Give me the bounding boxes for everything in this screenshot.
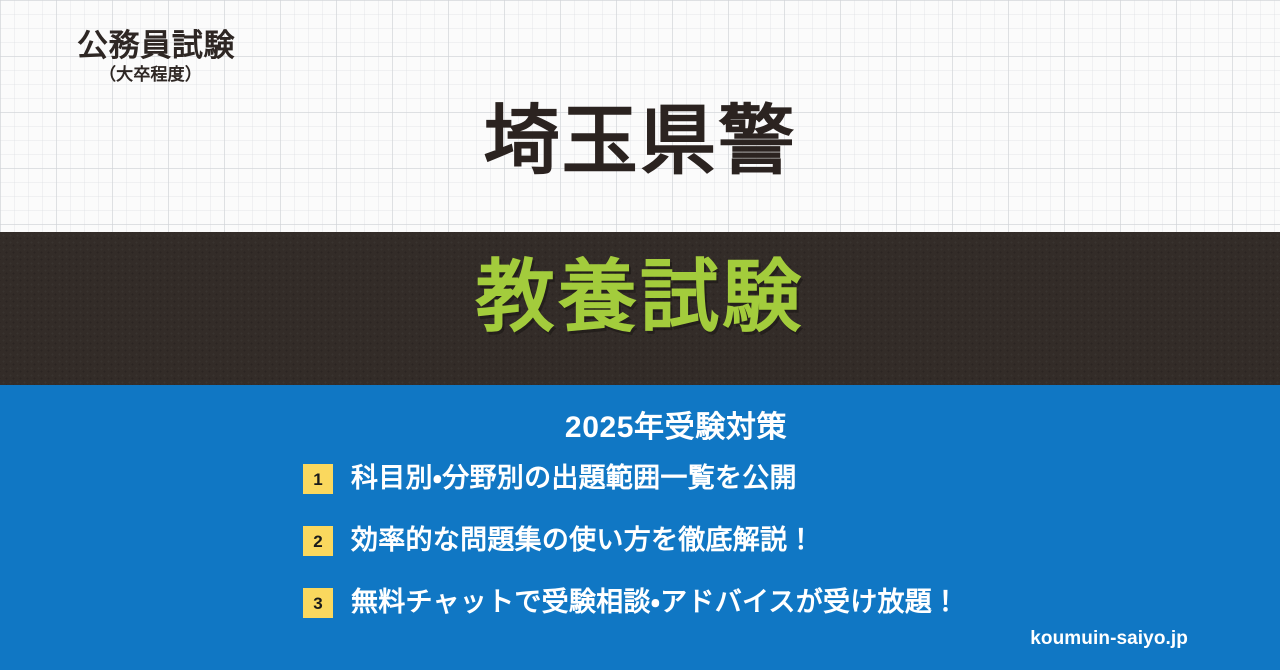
promo-heading: 2025年受験対策 [296,411,1056,444]
exam-type-label: 教養試験 [0,256,1280,339]
kicker-block: 公務員試験 （大卒程度） [77,28,437,84]
point-number-badge: 1 [303,464,333,494]
exam-promo-banner: 公務員試験 （大卒程度） 埼玉県警 教養試験 2025年受験対策 1 科目別・分… [0,0,1280,670]
site-url-label: koumuin-saiyo.jp [1030,629,1188,650]
promo-section: 2025年受験対策 1 科目別・分野別の出題範囲一覧を公開 2 効率的な問題集の… [0,385,1280,670]
point-text: 効率的な問題集の使い方を徹底解説！ [351,526,815,556]
exam-type-section: 教養試験 [0,232,1280,385]
promo-point-list: 1 科目別・分野別の出題範囲一覧を公開 2 効率的な問題集の使い方を徹底解説！ … [303,463,1203,619]
point-text: 科目別・分野別の出題範囲一覧を公開 [351,464,797,494]
kicker-sub-label: （大卒程度） [77,66,437,85]
point-number-badge: 2 [303,526,333,556]
page-title: 埼玉県警 [0,104,1280,180]
kicker-main-label: 公務員試験 [77,28,437,64]
point-text: 無料チャットで受験相談・アドバイスが受け放題！ [351,588,959,618]
list-item: 1 科目別・分野別の出題範囲一覧を公開 [303,463,1203,495]
list-item: 3 無料チャットで受験相談・アドバイスが受け放題！ [303,587,1203,619]
point-number-badge: 3 [303,588,333,618]
list-item: 2 効率的な問題集の使い方を徹底解説！ [303,525,1203,557]
header-section: 公務員試験 （大卒程度） 埼玉県警 [0,0,1280,232]
